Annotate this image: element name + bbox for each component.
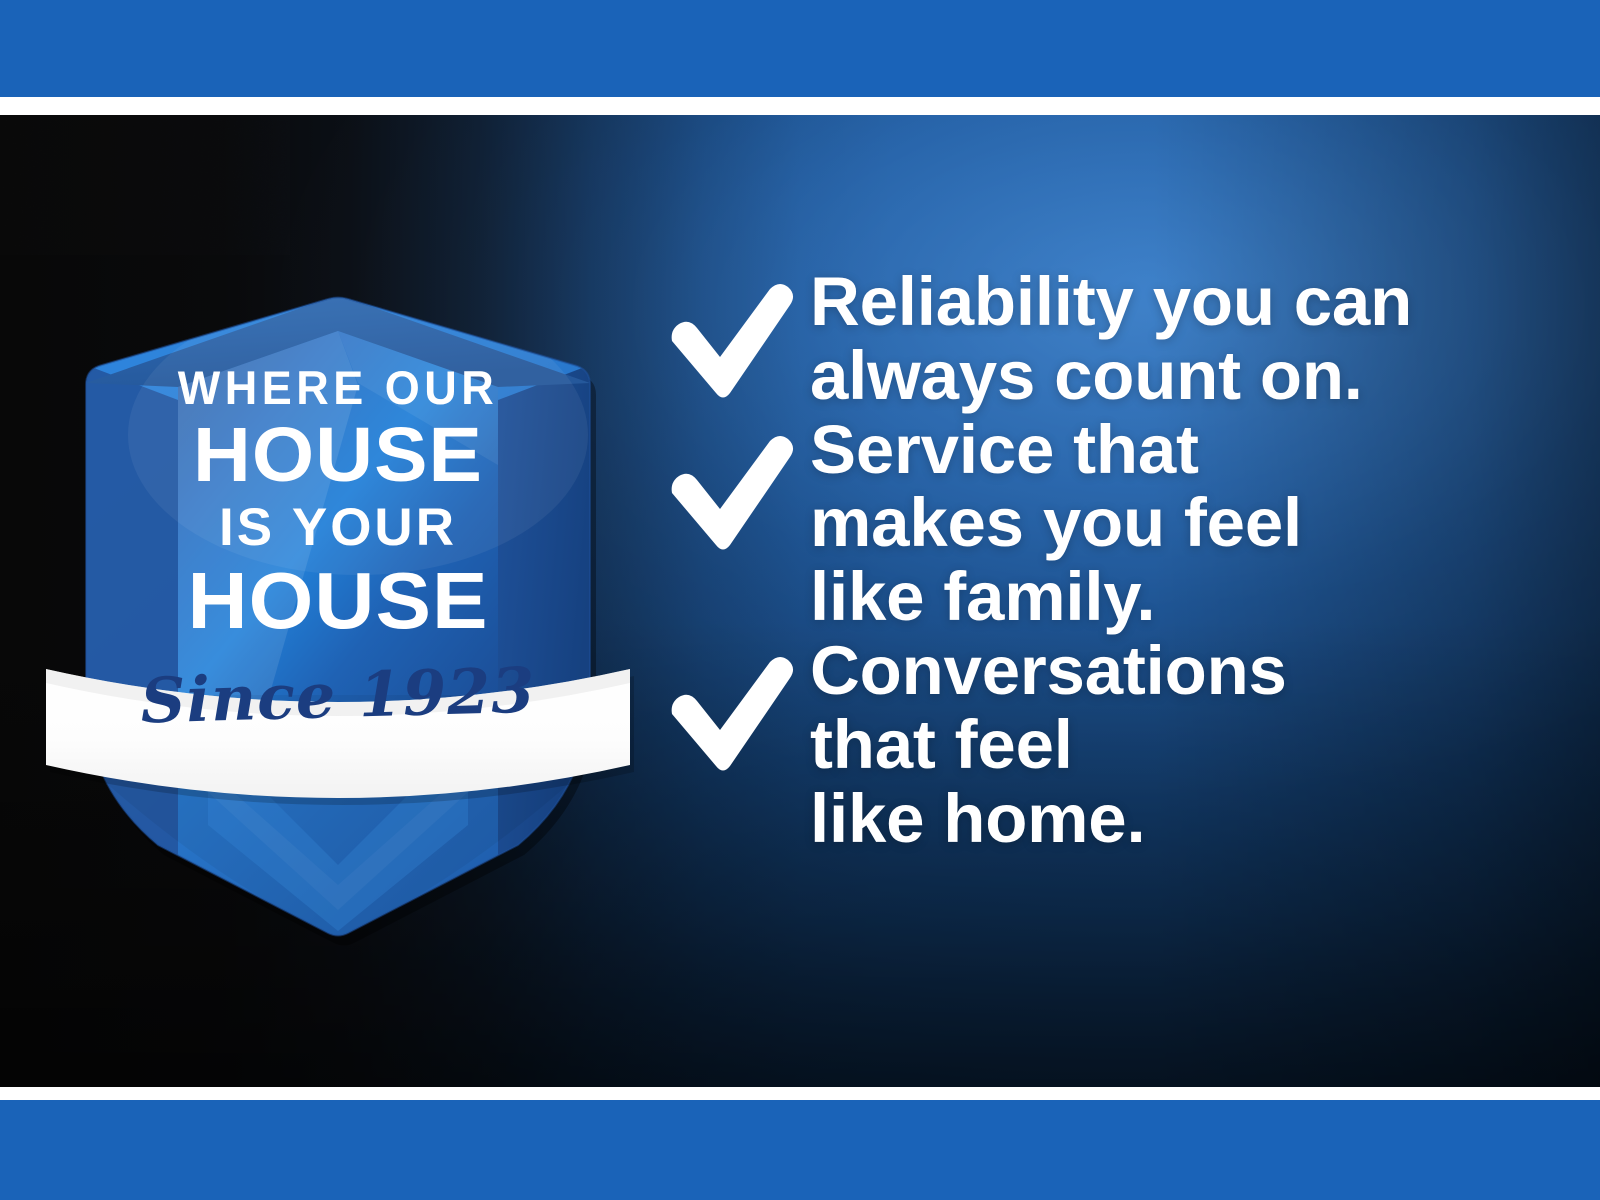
benefit-item-service: Service that makes you feel like family. — [660, 413, 1560, 634]
benefit-line: Reliability you can — [810, 265, 1412, 339]
shield-logo: WHERE OUR HOUSE IS YOUR HOUSE Since 1923 — [58, 265, 618, 945]
check-icon — [660, 413, 810, 553]
benefit-item-conversations: Conversations that feel like home. — [660, 634, 1560, 855]
benefit-text-conversations: Conversations that feel like home. — [810, 634, 1287, 855]
main-stage: WHERE OUR HOUSE IS YOUR HOUSE Since 1923… — [0, 115, 1600, 1087]
benefit-line: Service that — [810, 413, 1302, 487]
top-white-stripe — [0, 97, 1600, 115]
top-brand-bar — [0, 0, 1600, 97]
benefit-line: like family. — [810, 560, 1302, 634]
benefit-line: makes you feel — [810, 486, 1302, 560]
benefit-line: always count on. — [810, 339, 1412, 413]
benefit-text-reliability: Reliability you can always count on. — [810, 265, 1412, 413]
benefit-line: that feel — [810, 708, 1287, 782]
benefit-line: like home. — [810, 782, 1287, 856]
benefit-line: Conversations — [810, 634, 1287, 708]
benefit-text-service: Service that makes you feel like family. — [810, 413, 1302, 634]
benefits-list: Reliability you can always count on. Ser… — [660, 265, 1560, 856]
check-icon — [660, 265, 810, 401]
bottom-brand-bar — [0, 1100, 1600, 1200]
promo-graphic: WHERE OUR HOUSE IS YOUR HOUSE Since 1923… — [0, 0, 1600, 1200]
background-noise-texture — [0, 115, 290, 255]
bottom-white-stripe — [0, 1087, 1600, 1100]
check-icon — [660, 634, 810, 774]
benefit-item-reliability: Reliability you can always count on. — [660, 265, 1560, 413]
